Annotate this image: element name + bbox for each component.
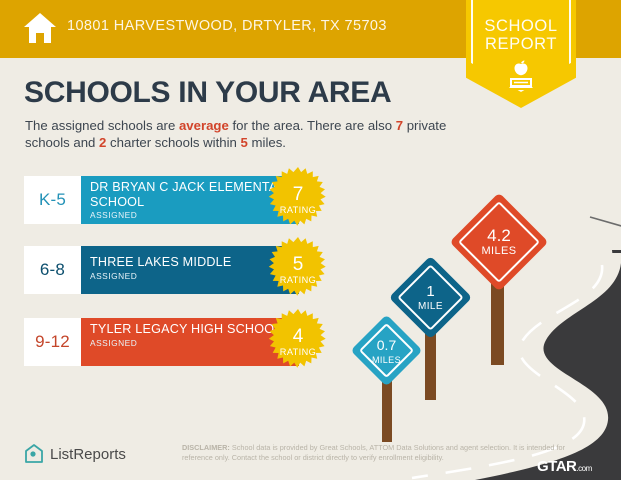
subtitle-highlight-miles: 5 bbox=[241, 135, 248, 150]
school-row[interactable]: 9-12 TYLER LEGACY HIGH SCHOOL ASSIGNED bbox=[24, 318, 299, 366]
home-icon bbox=[22, 11, 58, 45]
watermark-name: GTAR bbox=[537, 458, 576, 475]
subtitle-highlight-private-count: 7 bbox=[396, 118, 403, 133]
page-subtitle: The assigned schools are average for the… bbox=[25, 117, 455, 151]
school-report-badge: SCHOOL REPORT bbox=[466, 0, 576, 108]
rating-label: RATING bbox=[264, 347, 332, 357]
sign-diamond bbox=[350, 314, 422, 386]
school-row[interactable]: K-5 DR BRYAN C JACK ELEMENTARY SCHOOL AS… bbox=[24, 176, 299, 224]
rating-value: 5 bbox=[264, 254, 332, 276]
disclaimer: DISCLAIMER: School data is provided by G… bbox=[182, 443, 572, 462]
badge-line-2: REPORT bbox=[466, 35, 576, 53]
distance-sign: 0.7 MILES bbox=[350, 320, 430, 450]
listreports-logo-text: ListReports bbox=[50, 446, 126, 463]
listreports-logo[interactable]: ListReports bbox=[24, 443, 126, 465]
page-title: SCHOOLS IN YOUR AREA bbox=[24, 76, 391, 110]
apple-on-book-icon bbox=[504, 58, 538, 92]
subtitle-part-1: The assigned schools are bbox=[25, 118, 179, 133]
rating-badge: 4 RATING bbox=[264, 308, 332, 376]
gtar-watermark: GTAR.com bbox=[537, 458, 592, 475]
sign-post bbox=[491, 277, 504, 365]
badge-line-1: SCHOOL bbox=[466, 17, 576, 35]
rating-label: RATING bbox=[264, 205, 332, 215]
road-scene: 4.2 MILES 1 MILE 0.7 MILES bbox=[350, 195, 621, 480]
rating-value: 4 bbox=[264, 326, 332, 348]
grade-range: 6-8 bbox=[24, 246, 81, 294]
sign-border bbox=[359, 323, 414, 378]
disclaimer-label: DISCLAIMER: bbox=[182, 443, 230, 452]
house-tag-icon bbox=[24, 443, 44, 465]
rating-badge: 7 RATING bbox=[264, 166, 332, 234]
header-address: 10801 HARVESTWOOD, DRTYLER, TX 75703 bbox=[67, 18, 387, 34]
subtitle-part-2: for the area. There are also bbox=[229, 118, 396, 133]
grade-range: 9-12 bbox=[24, 318, 81, 366]
school-row[interactable]: 6-8 THREE LAKES MIDDLE ASSIGNED bbox=[24, 246, 299, 294]
badge-title: SCHOOL REPORT bbox=[466, 17, 576, 53]
rating-badge: 5 RATING bbox=[264, 236, 332, 304]
subtitle-highlight-average: average bbox=[179, 118, 229, 133]
school-report-infographic: 10801 HARVESTWOOD, DRTYLER, TX 75703 SCH… bbox=[0, 0, 621, 480]
rating-label: RATING bbox=[264, 275, 332, 285]
watermark-domain: .com bbox=[576, 464, 591, 473]
subtitle-part-4: charter schools within bbox=[106, 135, 240, 150]
rating-value: 7 bbox=[264, 184, 332, 206]
disclaimer-text: School data is provided by Great Schools… bbox=[182, 443, 565, 462]
subtitle-part-5: miles. bbox=[248, 135, 286, 150]
grade-range: K-5 bbox=[24, 176, 81, 224]
